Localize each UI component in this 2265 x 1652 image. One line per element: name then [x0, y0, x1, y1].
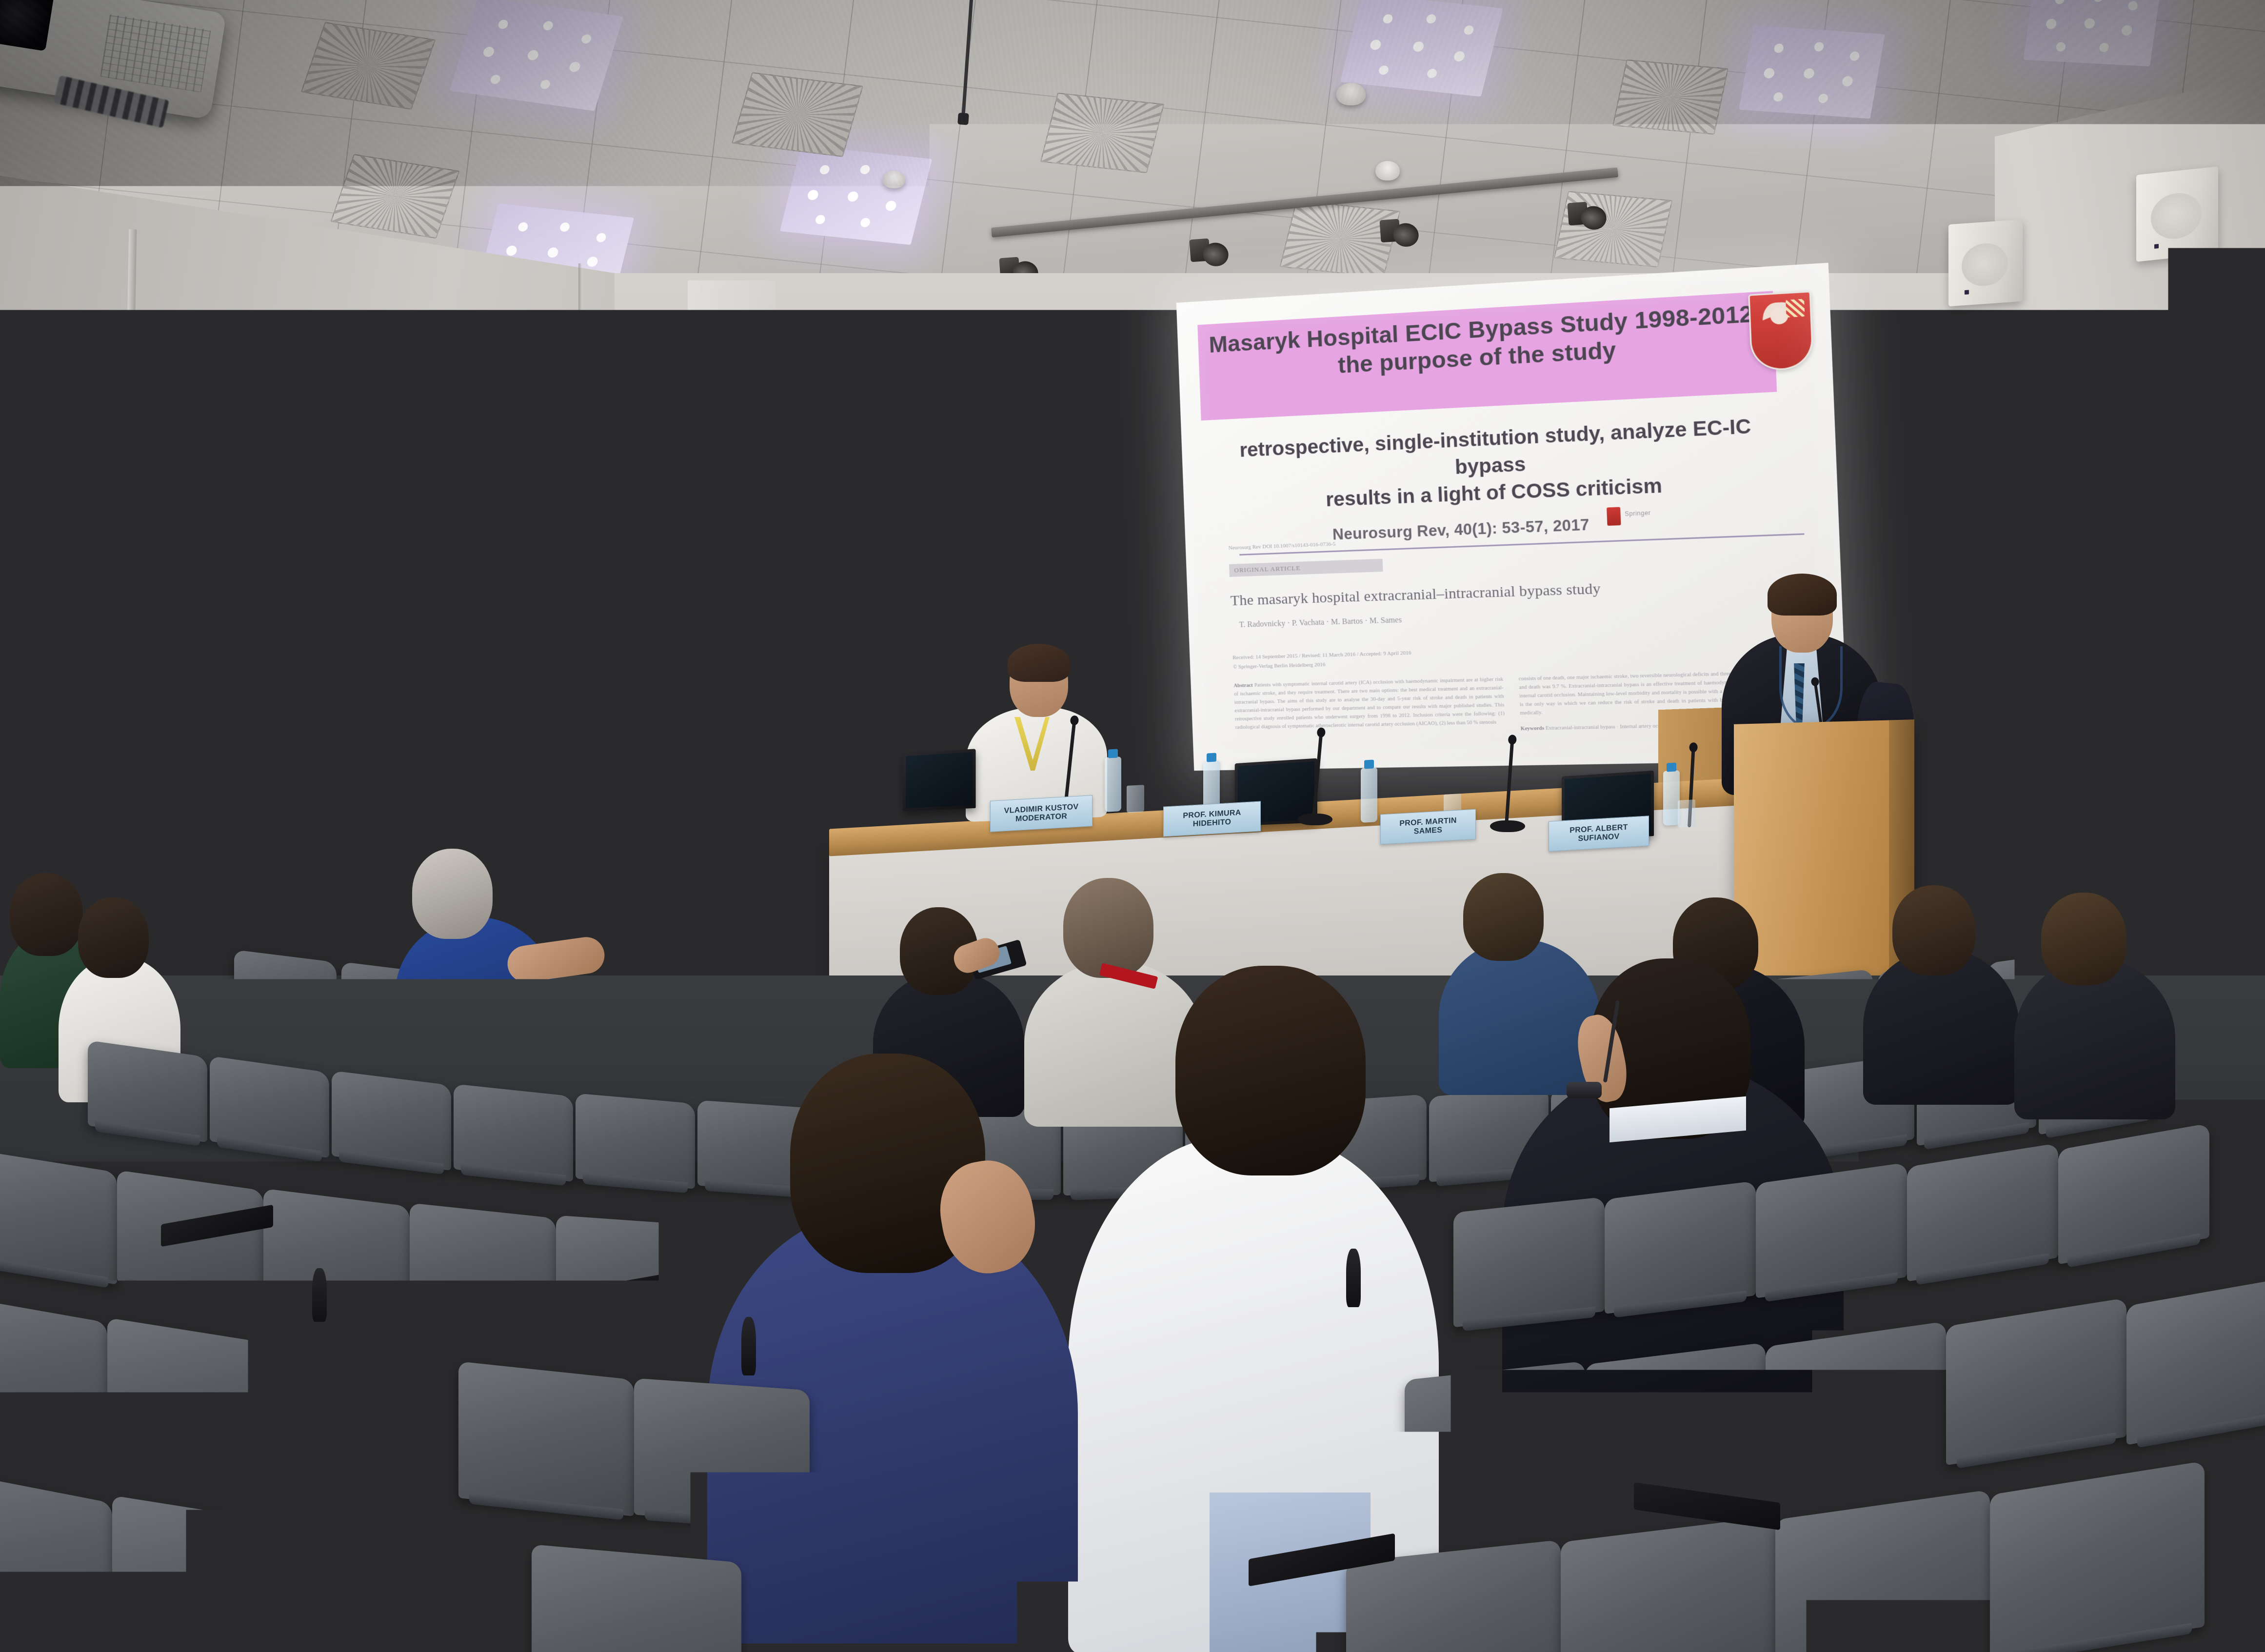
auditorium-seat[interactable]	[263, 1189, 410, 1319]
auditorium-seat[interactable]	[454, 1084, 573, 1182]
wristwatch	[1567, 1082, 1602, 1098]
auditorium-seat[interactable]	[210, 1056, 329, 1158]
track-spotlight	[1189, 239, 1210, 262]
auditorium-seat[interactable]	[532, 1544, 741, 1652]
auditorium-seat[interactable]	[1605, 1181, 1756, 1314]
ceiling-panel-light	[450, 0, 623, 111]
paper-section-label: ORIGINAL ARTICLE	[1234, 564, 1301, 575]
auditorium-seat[interactable]	[107, 1317, 283, 1482]
power-outlet[interactable]	[700, 742, 716, 766]
air-diffuser	[1612, 60, 1729, 135]
water-bottle[interactable]	[1105, 756, 1121, 812]
auditorium-seat[interactable]	[634, 1378, 810, 1527]
czech-lion-crest-icon	[1748, 291, 1814, 372]
wall-loudspeaker	[2136, 166, 2218, 262]
auditorium-seat[interactable]	[1756, 1162, 1907, 1298]
moderator-hair	[1008, 644, 1070, 682]
auditorium-photo: Masaryk Hospital ECIC Bypass Study 1998-…	[0, 0, 2265, 1652]
paper-abstract-text-left: Patients with symptomatic internal carot…	[1234, 677, 1505, 730]
seat-armrest	[1990, 1214, 2005, 1273]
tv-standby-led	[527, 869, 533, 872]
ceiling-panel-light	[1739, 25, 1885, 119]
smoke-detector-icon	[1375, 161, 1400, 180]
water-bottle[interactable]	[1663, 770, 1680, 826]
auditorium-seat[interactable]	[1585, 1342, 1766, 1503]
auditorium-seat[interactable]	[1405, 1361, 1585, 1519]
paper-copyright: © Springer-Verlag Berlin Heidelberg 2016	[1233, 661, 1326, 670]
wall-loudspeaker	[812, 327, 866, 413]
drinking-glass[interactable]	[1678, 799, 1695, 828]
wall-loudspeaker	[1948, 219, 2023, 307]
ceiling-panel-light	[780, 145, 932, 245]
paper-keywords-label: Keywords	[1521, 726, 1545, 732]
projector-lens	[0, 0, 54, 51]
nameplate-role: HIDEHITO	[1193, 818, 1232, 829]
auditorium-seat[interactable]	[576, 1093, 695, 1189]
paper-title: The masaryk hospital extracranial–intrac…	[1230, 574, 1789, 609]
paper-running-head: Neurosurg Rev DOI 10.1007/s10143-016-073…	[1228, 540, 1335, 552]
ceiling-panel-light	[1340, 0, 1503, 97]
smoke-detector-icon	[883, 171, 905, 188]
brain-cross-section-artwork	[2056, 383, 2265, 617]
smoke-detector-icon	[1336, 83, 1366, 105]
nameplate-kimura: PROF. KIMURA HIDEHITO	[1163, 801, 1261, 836]
microphone-base	[1297, 814, 1332, 825]
track-spotlight	[1379, 219, 1400, 243]
ceiling-panel-light	[2023, 0, 2161, 66]
auditorium-seat[interactable]	[410, 1203, 556, 1331]
nameplate-role: SUFIANOV	[1578, 833, 1619, 844]
slide-subtitle: retrospective, single-institution study,…	[1208, 411, 1788, 518]
paper-abstract-label: Abstract	[1233, 683, 1253, 689]
presenter-hair	[1768, 574, 1837, 616]
clock-minute-hand	[551, 341, 568, 360]
auditorium-seat[interactable]	[671, 992, 775, 1075]
nameplate-sufianov: PROF. ALBERT SUFIANOV	[1549, 816, 1649, 852]
air-diffuser	[1040, 93, 1164, 173]
paper-dates: Received: 14 September 2015 / Revised: 1…	[1232, 649, 1412, 672]
drinking-glass[interactable]	[1127, 785, 1144, 813]
microphone-base	[1490, 820, 1525, 832]
springer-logo-icon	[1607, 507, 1621, 526]
track-spotlight	[1567, 202, 1588, 226]
auditorium-seat[interactable]	[1990, 1461, 2205, 1652]
paper-section-label-box: ORIGINAL ARTICLE	[1229, 559, 1383, 577]
power-outlet[interactable]	[2070, 818, 2087, 843]
paper-authors: T. Radovnicky · P. Vachata · M. Bartos ·…	[1239, 616, 1402, 630]
paper-received-dates: Received: 14 September 2015 / Revised: 1…	[1232, 650, 1411, 661]
nameplate-role: SAMES	[1414, 826, 1442, 836]
springer-logo-label: Springer	[1625, 509, 1651, 517]
seat-armrest	[741, 1317, 756, 1375]
slide-subtitle-line1: retrospective, single-institution study,…	[1239, 415, 1752, 478]
air-diffuser	[732, 72, 863, 157]
auditorium-seat[interactable]	[1946, 1298, 2126, 1466]
paper-abstract-col-left: Abstract Patients with symptomatic inter…	[1233, 675, 1507, 767]
auditorium-seat[interactable]	[332, 1071, 451, 1171]
slide-subtitle-line2: results in a light of COSS criticism	[1325, 475, 1662, 511]
auditorium-seat[interactable]	[234, 950, 337, 1035]
brain-cross-section-artwork	[539, 476, 710, 636]
auditorium-seat[interactable]	[0, 1149, 117, 1285]
presenter-lanyard	[1779, 646, 1843, 729]
auditorium-seat[interactable]	[1907, 1143, 2058, 1281]
wall-loudspeaker	[585, 324, 628, 400]
auditorium-seat[interactable]	[561, 984, 666, 1069]
nameplate-moderator: VLADIMIR KUSTOV MODERATOR	[990, 795, 1093, 832]
auditorium-seat[interactable]	[1453, 1197, 1605, 1328]
seat-armrest	[312, 1268, 327, 1322]
auditorium-seat[interactable]	[458, 1361, 634, 1516]
seat-armrest	[1346, 1249, 1361, 1307]
panel-laptop[interactable]	[903, 749, 975, 811]
auditorium-seat[interactable]	[1766, 1321, 1946, 1486]
nameplate-sames: PROF. MARTIN SAMES	[1380, 809, 1476, 845]
water-bottle[interactable]	[1361, 767, 1377, 823]
auditorium-seat[interactable]	[283, 1341, 458, 1503]
auditorium-seat[interactable]	[88, 1040, 207, 1142]
projector-vent	[100, 14, 211, 93]
